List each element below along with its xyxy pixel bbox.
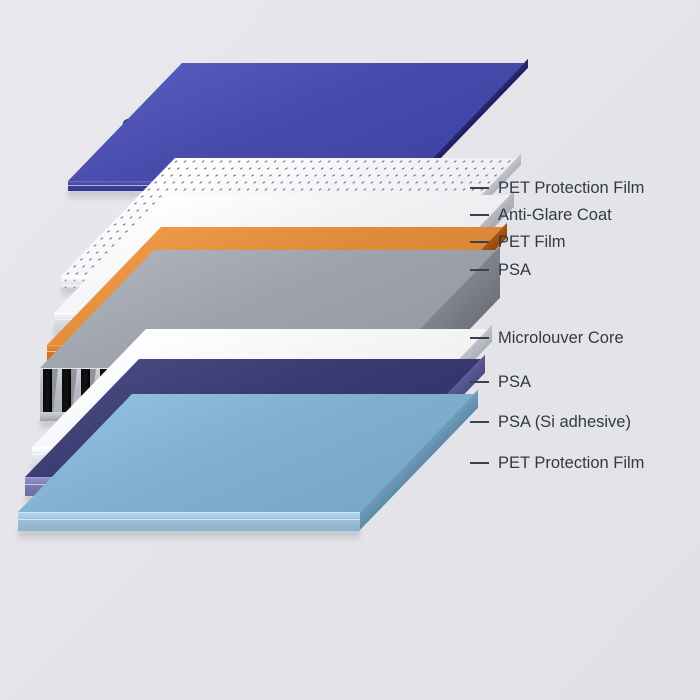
diagram-canvas: Structure of Product PET Protection Film… <box>0 0 700 700</box>
callout-label: PSA <box>498 262 531 279</box>
callout-leader-line <box>470 337 489 339</box>
callout-label-group: PET Protection FilmAnti-Glare CoatPET Fi… <box>0 0 700 700</box>
callout-leader-line <box>470 269 489 271</box>
callout-leader-line <box>470 381 489 383</box>
callout-leader-line <box>470 421 489 423</box>
callout-0: PET Protection Film <box>470 180 644 197</box>
callout-7: PET Protection Film <box>470 455 644 472</box>
callout-label: PET Film <box>498 234 566 251</box>
callout-2: PET Film <box>470 234 566 251</box>
callout-6: PSA (Si adhesive) <box>470 414 631 431</box>
callout-leader-line <box>470 187 489 189</box>
callout-leader-line <box>470 214 489 216</box>
callout-label: PSA <box>498 374 531 391</box>
callout-4: Microlouver Core <box>470 330 624 347</box>
callout-label: PSA (Si adhesive) <box>498 414 631 431</box>
callout-label: Microlouver Core <box>498 330 624 347</box>
callout-label: Anti-Glare Coat <box>498 207 612 224</box>
callout-label: PET Protection Film <box>498 455 644 472</box>
callout-5: PSA <box>470 374 531 391</box>
callout-label: PET Protection Film <box>498 180 644 197</box>
callout-3: PSA <box>470 262 531 279</box>
callout-1: Anti-Glare Coat <box>470 207 612 224</box>
callout-leader-line <box>470 462 489 464</box>
callout-leader-line <box>470 241 489 243</box>
